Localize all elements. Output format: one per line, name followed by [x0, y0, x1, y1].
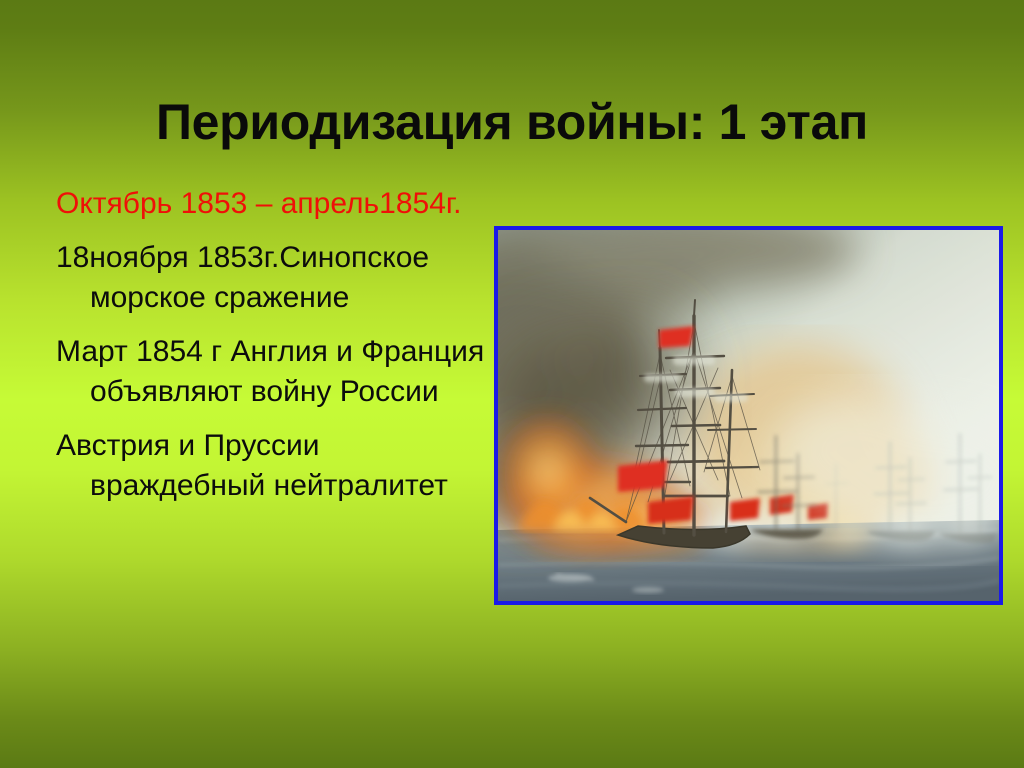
bullet-item-2: 18ноября 1853г.Синопское морское сражени… [56, 238, 496, 318]
sinop-naval-battle-painting [498, 230, 999, 601]
bullet-item-4: Австрия и Пруссии враждебный нейтралитет [56, 426, 496, 506]
presentation-slide: Периодизация войны: 1 этап Октябрь 1853 … [0, 0, 1024, 768]
bullet-list: Октябрь 1853 – апрель1854г. 18ноября 185… [56, 184, 496, 506]
slide-title: Периодизация войны: 1 этап [0, 92, 1024, 152]
bullet-item-3: Март 1854 г Англия и Франция объявляют в… [56, 332, 496, 412]
bullet-item-1: Октябрь 1853 – апрель1854г. [56, 184, 496, 224]
picture-frame [494, 226, 1003, 605]
